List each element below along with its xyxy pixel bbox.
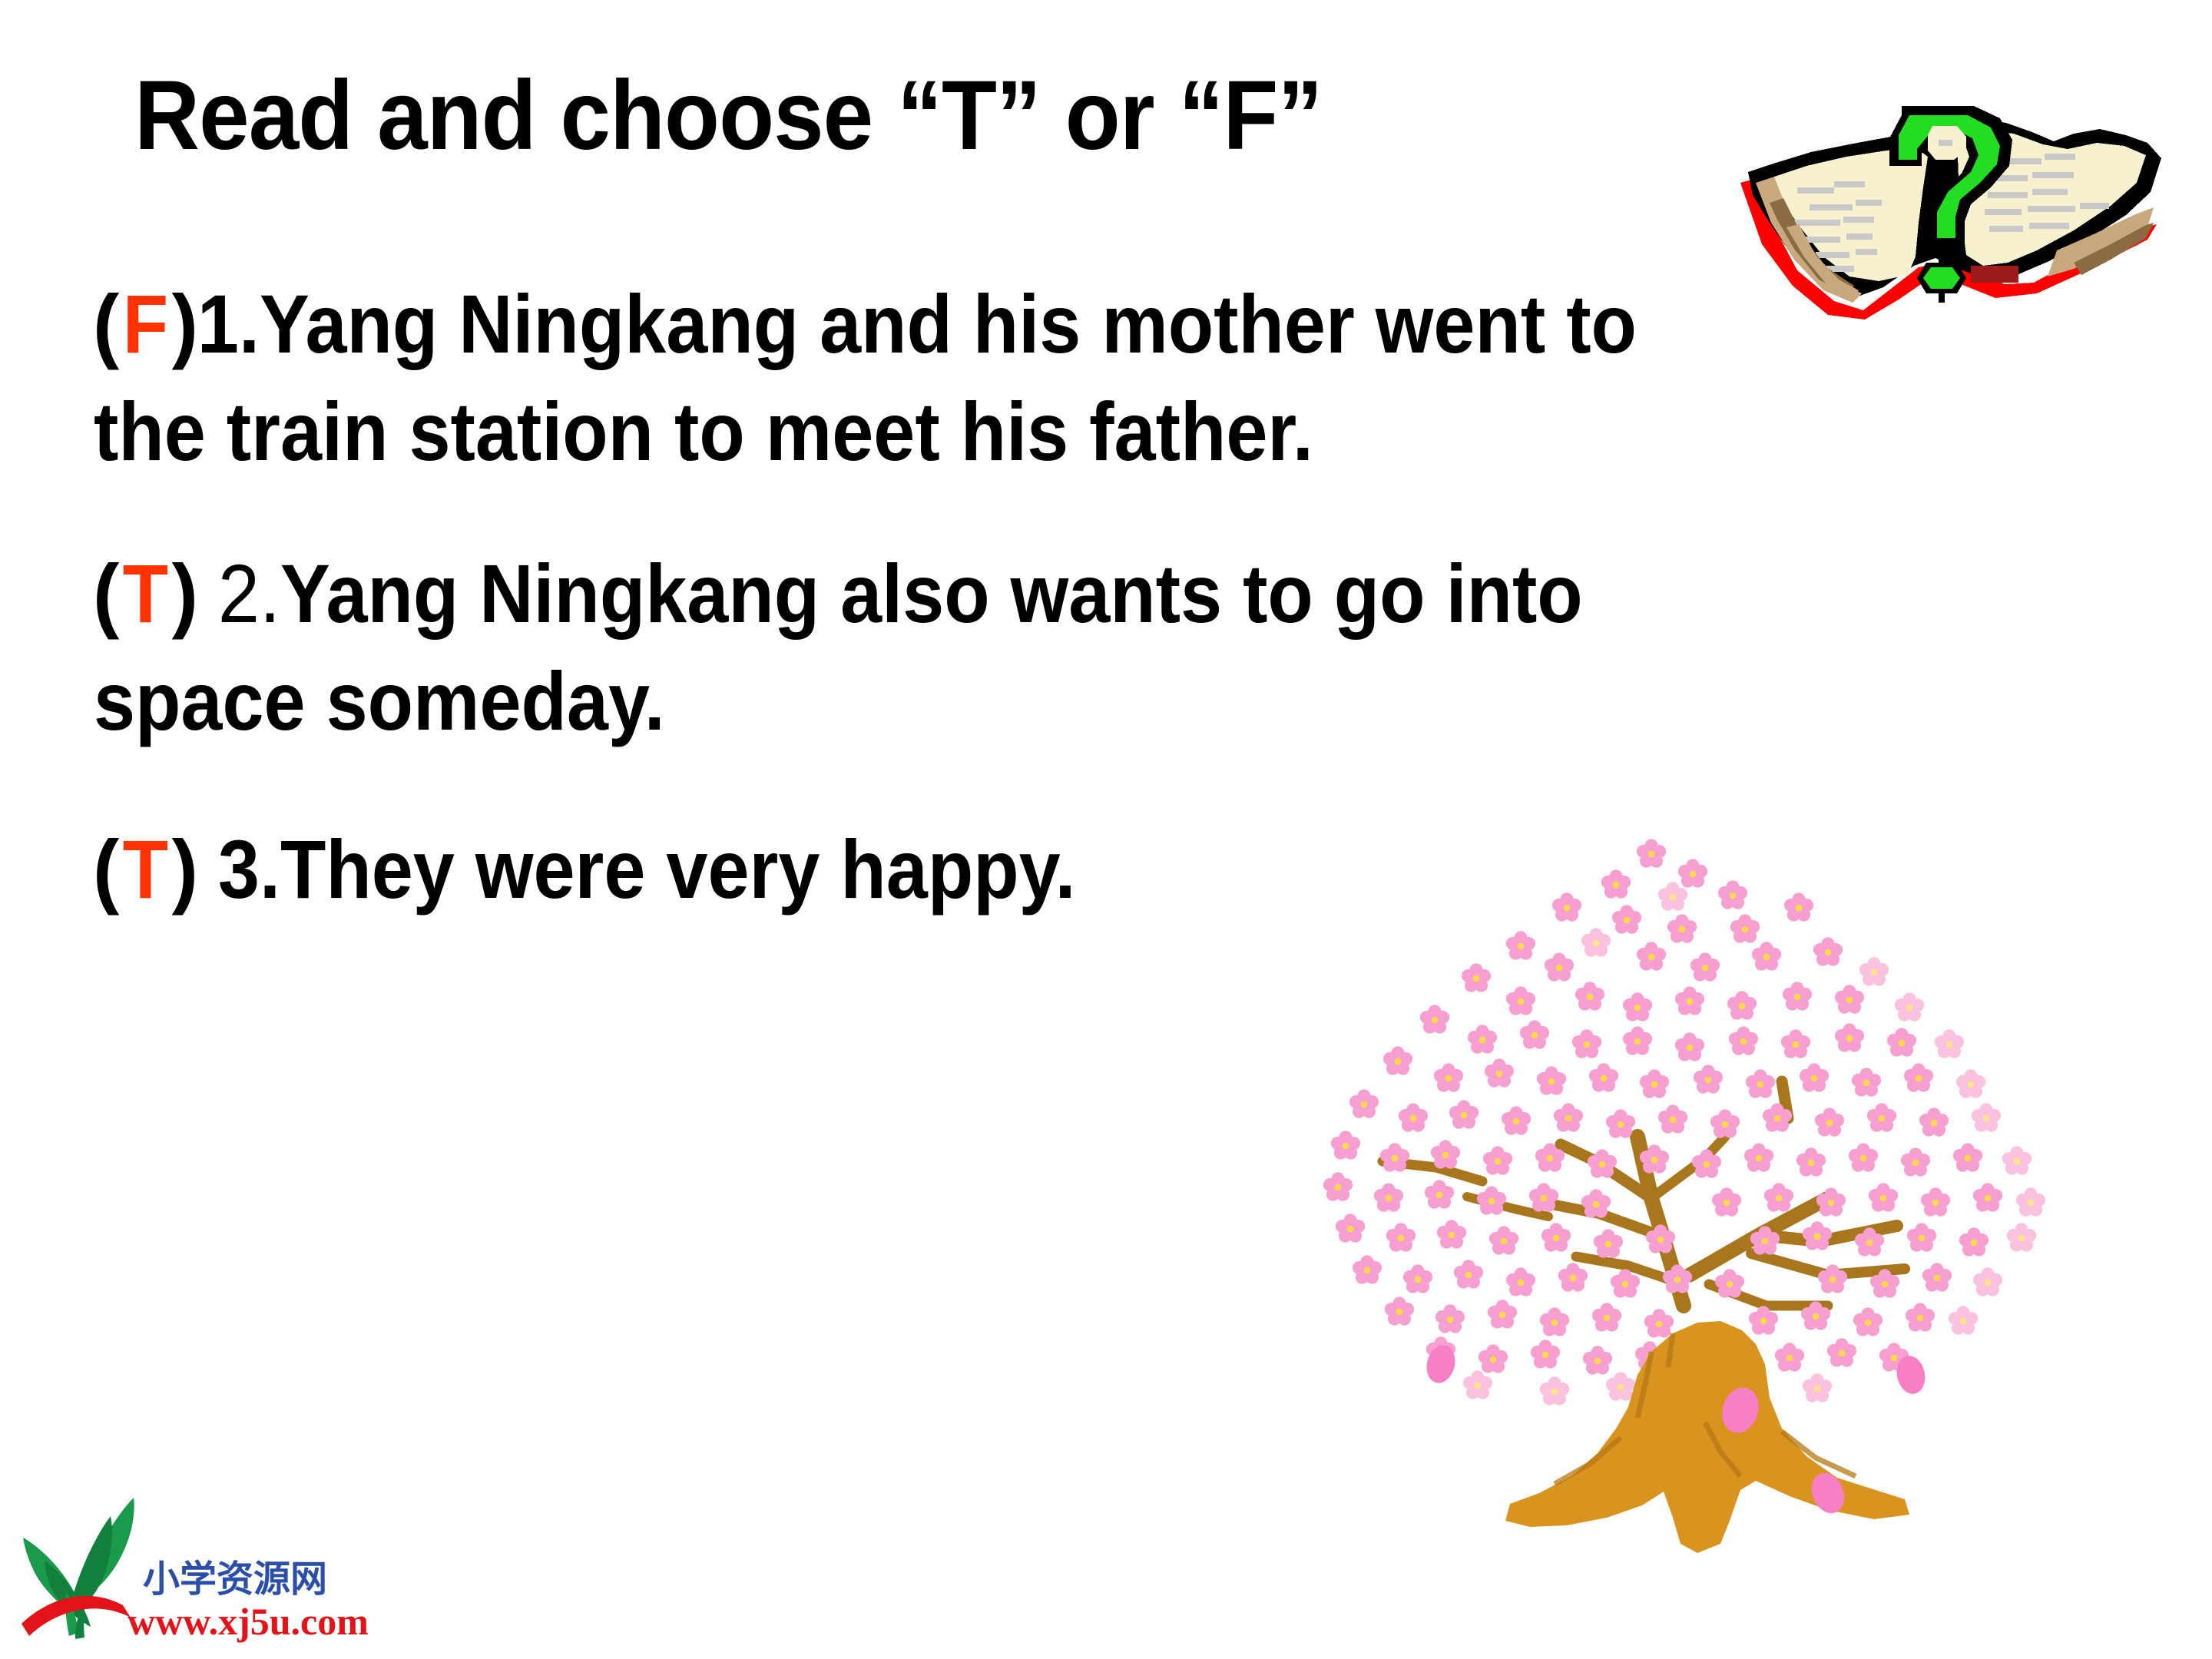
- open-paren-3: (: [93, 816, 119, 923]
- close-paren-3: ): [172, 816, 198, 923]
- statement-number-3: 3.: [197, 823, 280, 916]
- statement-text-2: Yang Ningkang also wants to go into spac…: [94, 547, 1583, 747]
- close-paren-1: ): [172, 270, 198, 378]
- statement-item-2: (T) 2.Yang Ningkang also wants to go int…: [94, 540, 1697, 756]
- watermark-site-url: www.xj5u.com: [127, 1600, 369, 1643]
- statement-item-1: (F)1.Yang Ningkang and his mother went t…: [94, 270, 1697, 486]
- site-watermark: 小学资源网 www.xj5u.com: [22, 1493, 406, 1647]
- slide-canvas: Read and choose “T” or “F” (F)1.Yang Nin…: [0, 0, 2212, 1659]
- answer-letter-1[interactable]: F: [118, 270, 172, 378]
- statement-number-2: 2.: [197, 547, 280, 640]
- open-book-question-mark-icon: [1727, 92, 2175, 330]
- open-paren-2: (: [93, 540, 119, 647]
- open-paren-1: (: [93, 270, 119, 378]
- statement-text-3: They were very happy.: [280, 823, 1075, 916]
- statement-text-1: Yang Ningkang and his mother went to the…: [94, 277, 1637, 478]
- statement-number-1: 1.: [197, 277, 260, 370]
- answer-letter-3[interactable]: T: [118, 816, 172, 923]
- answer-letter-2[interactable]: T: [118, 540, 172, 647]
- leaf-logo: [22, 1498, 134, 1639]
- close-paren-2: ): [172, 540, 198, 647]
- cherry-blossom-tree-image: [1290, 814, 2081, 1590]
- watermark-site-name: 小学资源网: [143, 1558, 327, 1601]
- page-title: Read and choose “T” or “F”: [134, 63, 1583, 169]
